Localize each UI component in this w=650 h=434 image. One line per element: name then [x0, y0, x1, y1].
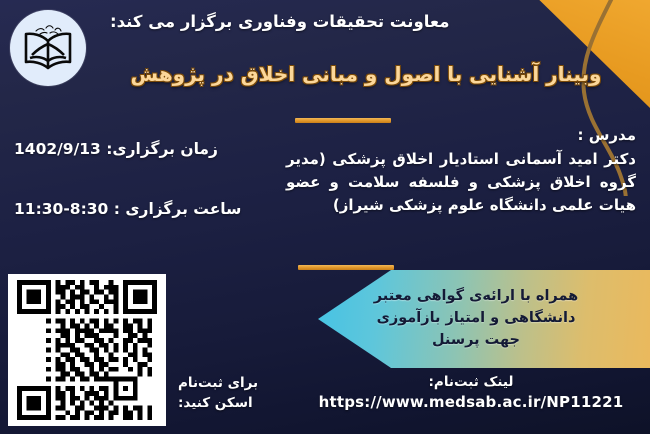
open-book-icon [20, 22, 76, 74]
qr-code-icon [17, 280, 157, 420]
schedule-block: زمان برگزاری: 1402/9/13 ساعت برگزاری : 8… [0, 140, 268, 218]
webinar-poster: معاونت تحقیقات وفناوری برگزار می کند: وب… [0, 0, 650, 434]
certificate-banner-text: همراه با ارائه‌ی گواهی معتبر دانشگاهی و … [318, 286, 650, 351]
certificate-banner: همراه با ارائه‌ی گواهی معتبر دانشگاهی و … [318, 270, 650, 368]
banner-line-1: همراه با ارائه‌ی گواهی معتبر [318, 286, 634, 308]
banner-line-2: دانشگاهی و امتیاز بازآموزی [318, 308, 634, 330]
event-time: ساعت برگزاری : 8:30-11:30 [0, 200, 268, 218]
qr-caption-line-1: برای ثبت‌نام [178, 374, 298, 394]
registration-block: لینک ثبت‌نام: https://www.medsab.ac.ir/N… [306, 374, 636, 411]
qr-caption-line-2: اسکن کنید: [178, 394, 298, 414]
event-date: زمان برگزاری: 1402/9/13 [0, 140, 268, 158]
organization-logo [10, 10, 86, 86]
instructor-details: دکتر امید آسمانی استادیار اخلاق پزشکی (م… [286, 148, 636, 216]
qr-caption: برای ثبت‌نام اسکن کنید: [178, 374, 298, 413]
registration-url[interactable]: https://www.medsab.ac.ir/NP11221 [306, 393, 636, 411]
gold-divider-top [295, 118, 391, 123]
poster-title: وبینار آشنایی با اصول و مبانی اخلاق در پ… [96, 62, 636, 86]
instructor-block: مدرس : دکتر امید آسمانی استادیار اخلاق پ… [286, 126, 636, 216]
banner-line-3: جهت پرسنل [318, 330, 634, 352]
instructor-label: مدرس : [286, 126, 636, 144]
registration-label: لینک ثبت‌نام: [306, 374, 636, 390]
poster-header-text: معاونت تحقیقات وفناوری برگزار می کند: [110, 12, 636, 31]
qr-code[interactable] [8, 274, 166, 426]
gold-divider-bottom [298, 265, 394, 270]
